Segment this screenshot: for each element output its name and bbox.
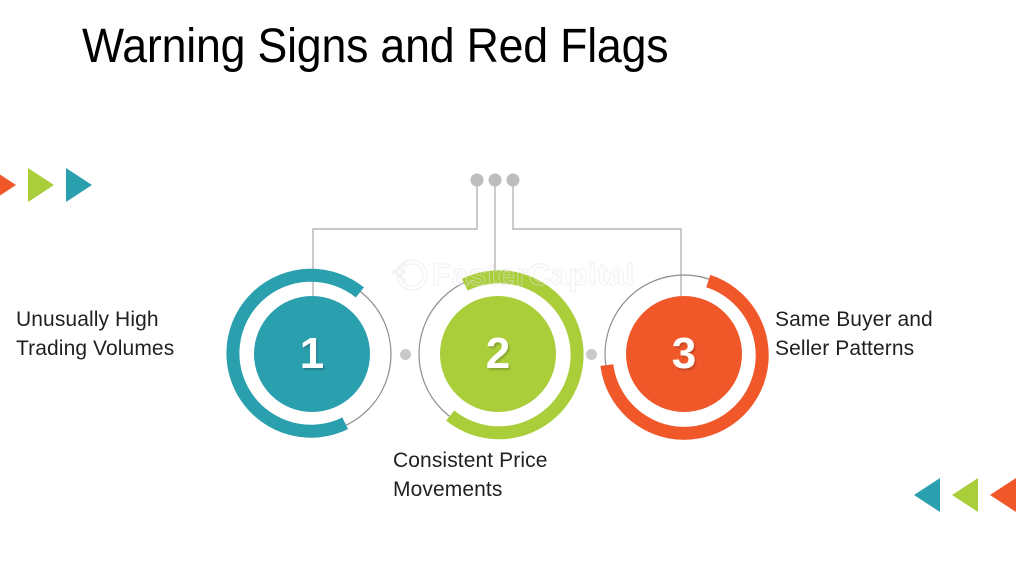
step-3-caption: Same Buyer and Seller Patterns	[775, 305, 1000, 363]
separator-dot-1	[400, 349, 411, 360]
step-3-caption-line-2: Seller Patterns	[775, 334, 1000, 363]
step-1-number: 1	[226, 268, 398, 440]
step-item-1[interactable]: 1	[226, 268, 398, 440]
step-item-2[interactable]: 2	[412, 268, 584, 440]
step-1-caption-line-2: Trading Volumes	[16, 334, 231, 363]
separator-dot-2	[586, 349, 597, 360]
step-2-caption-line-2: Movements	[393, 475, 623, 504]
connector-dot-2	[489, 174, 502, 187]
step-1-caption-line-1: Unusually High	[16, 305, 231, 334]
step-3-number: 3	[598, 268, 770, 440]
connector-dot-1	[471, 174, 484, 187]
step-item-3[interactable]: 3	[598, 268, 770, 440]
connector-dot-3	[507, 174, 520, 187]
step-2-caption-line-1: Consistent Price	[393, 446, 623, 475]
connector-dots	[471, 174, 520, 187]
step-2-number: 2	[412, 268, 584, 440]
step-3-caption-line-1: Same Buyer and	[775, 305, 1000, 334]
step-2-caption: Consistent Price Movements	[393, 446, 623, 504]
step-1-caption: Unusually High Trading Volumes	[16, 305, 231, 363]
